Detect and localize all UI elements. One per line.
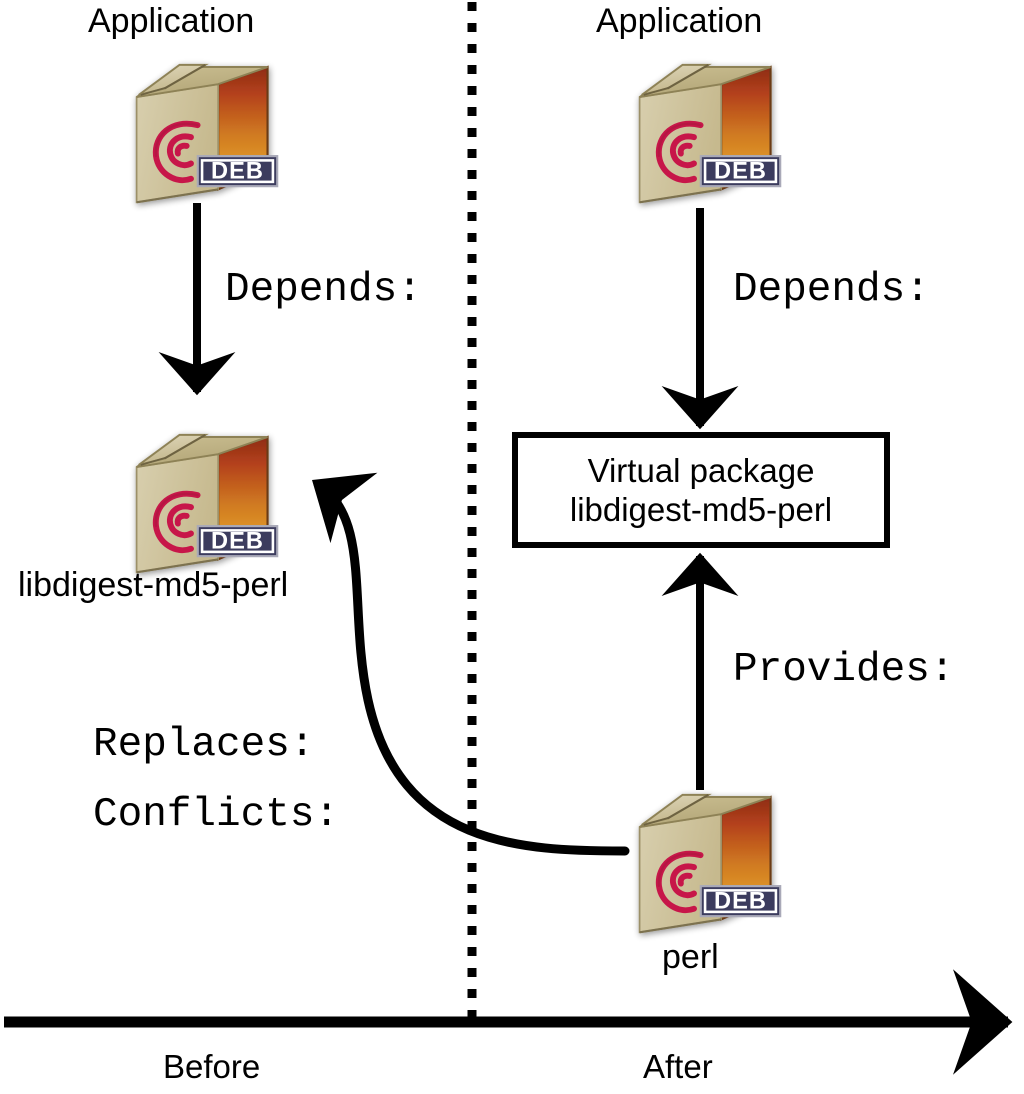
application-header-after: Application [596, 2, 762, 40]
application-header-before: Application [88, 2, 254, 40]
virtual-package-box: Virtual package libdigest-md5-perl [512, 432, 890, 548]
debian-package-icon-perl [640, 795, 782, 932]
timeline-after-label: After [643, 1048, 713, 1086]
timeline-before-label: Before [163, 1048, 260, 1086]
libdigest-md5-perl-label: libdigest-md5-perl [18, 566, 288, 604]
depends-label-after: Depends: [733, 268, 930, 312]
debian-package-icon-app-before [137, 65, 279, 202]
diagram-canvas: DEB Application Application Depends: Dep… [0, 0, 1024, 1094]
debian-package-icon-app-after [640, 65, 782, 202]
depends-label-before: Depends: [225, 268, 422, 312]
virtual-package-line2: libdigest-md5-perl [570, 490, 832, 529]
replaces-label: Replaces: [93, 723, 314, 767]
virtual-package-line1: Virtual package [588, 451, 815, 490]
conflicts-label: Conflicts: [93, 793, 339, 837]
perl-label: perl [662, 938, 719, 976]
debian-package-icon-libdigest [137, 435, 279, 572]
provides-label: Provides: [733, 648, 954, 692]
